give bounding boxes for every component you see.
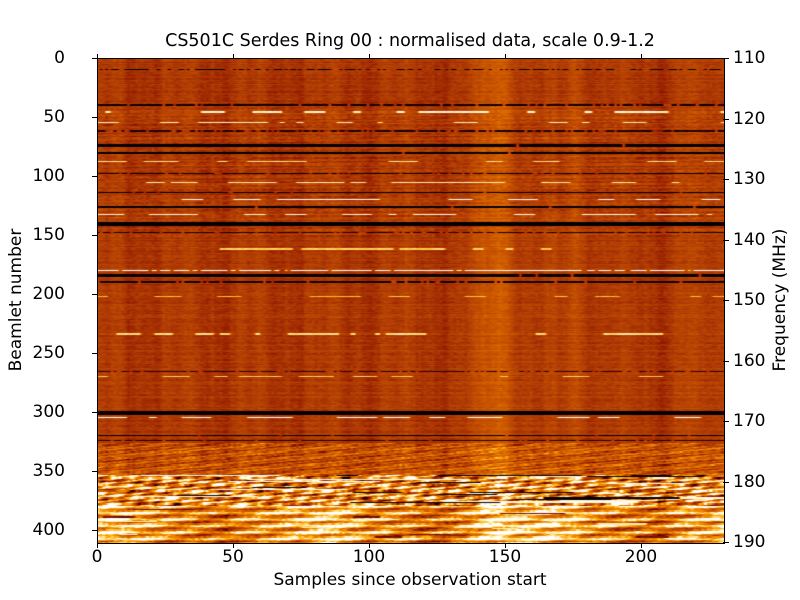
chart-title: CS501C Serdes Ring 00 : normalised data,…	[97, 31, 723, 51]
y-axis-right-tick-label: 170	[733, 413, 765, 430]
y-axis-right-tick	[723, 179, 729, 180]
y-axis-right-tick-label: 150	[733, 292, 765, 309]
x-axis-tick-top	[369, 54, 370, 59]
y-axis-right-tick-label: 110	[733, 50, 765, 67]
y-axis-left-tick	[92, 353, 98, 354]
y-axis-left-tick-label: 250	[33, 345, 65, 362]
y-axis-left-tick-label: 150	[33, 227, 65, 244]
x-axis-tick-top	[505, 54, 506, 59]
y-axis-right-tick	[723, 119, 729, 120]
y-axis-left-tick	[92, 176, 98, 177]
y-axis-right-tick	[723, 300, 729, 301]
y-axis-left-tick-label: 300	[33, 404, 65, 421]
heatmap-plot-area[interactable]	[97, 58, 725, 544]
y-axis-left-tick-label: 100	[33, 168, 65, 185]
x-axis-tick-label: 50	[222, 549, 244, 566]
y-axis-left-tick	[92, 530, 98, 531]
y-axis-right-tick-label: 190	[733, 534, 765, 551]
y-axis-left-tick	[92, 294, 98, 295]
y-axis-right-tick	[723, 240, 729, 241]
x-axis-title: Samples since observation start	[97, 570, 723, 590]
y-axis-right-tick	[723, 421, 729, 422]
y-axis-right-title: Frequency (MHz)	[770, 229, 790, 372]
figure-canvas: CS501C Serdes Ring 00 : normalised data,…	[0, 0, 800, 600]
y-axis-left-tick-label: 350	[33, 463, 65, 480]
y-axis-right-tick-label: 120	[733, 111, 765, 128]
y-axis-left-tick-label: 50	[43, 109, 65, 126]
y-axis-left-tick-label: 400	[33, 522, 65, 539]
x-axis-tick-top	[233, 54, 234, 59]
y-axis-left-tick	[92, 117, 98, 118]
y-axis-right-tick	[723, 58, 729, 59]
y-axis-right-tick-label: 160	[733, 353, 765, 370]
x-axis-tick-top	[641, 54, 642, 59]
y-axis-left-tick	[92, 471, 98, 472]
y-axis-right-tick	[723, 482, 729, 483]
y-axis-right-tick	[723, 361, 729, 362]
y-axis-right-tick	[723, 542, 729, 543]
y-axis-left-tick	[92, 235, 98, 236]
x-axis-tick-top	[97, 54, 98, 59]
y-axis-left-tick-label: 0	[54, 50, 65, 67]
x-axis-tick-label: 150	[489, 549, 521, 566]
y-axis-left-title: Beamlet number	[6, 229, 26, 372]
x-axis-tick-label: 0	[92, 549, 103, 566]
y-axis-right-tick-label: 130	[733, 171, 765, 188]
y-axis-left-tick	[92, 412, 98, 413]
y-axis-left-tick-label: 200	[33, 286, 65, 303]
x-axis-tick-label: 100	[353, 549, 385, 566]
x-axis-tick-label: 200	[625, 549, 657, 566]
y-axis-right-tick-label: 140	[733, 232, 765, 249]
heatmap-image	[98, 59, 724, 543]
y-axis-right-tick-label: 180	[733, 474, 765, 491]
